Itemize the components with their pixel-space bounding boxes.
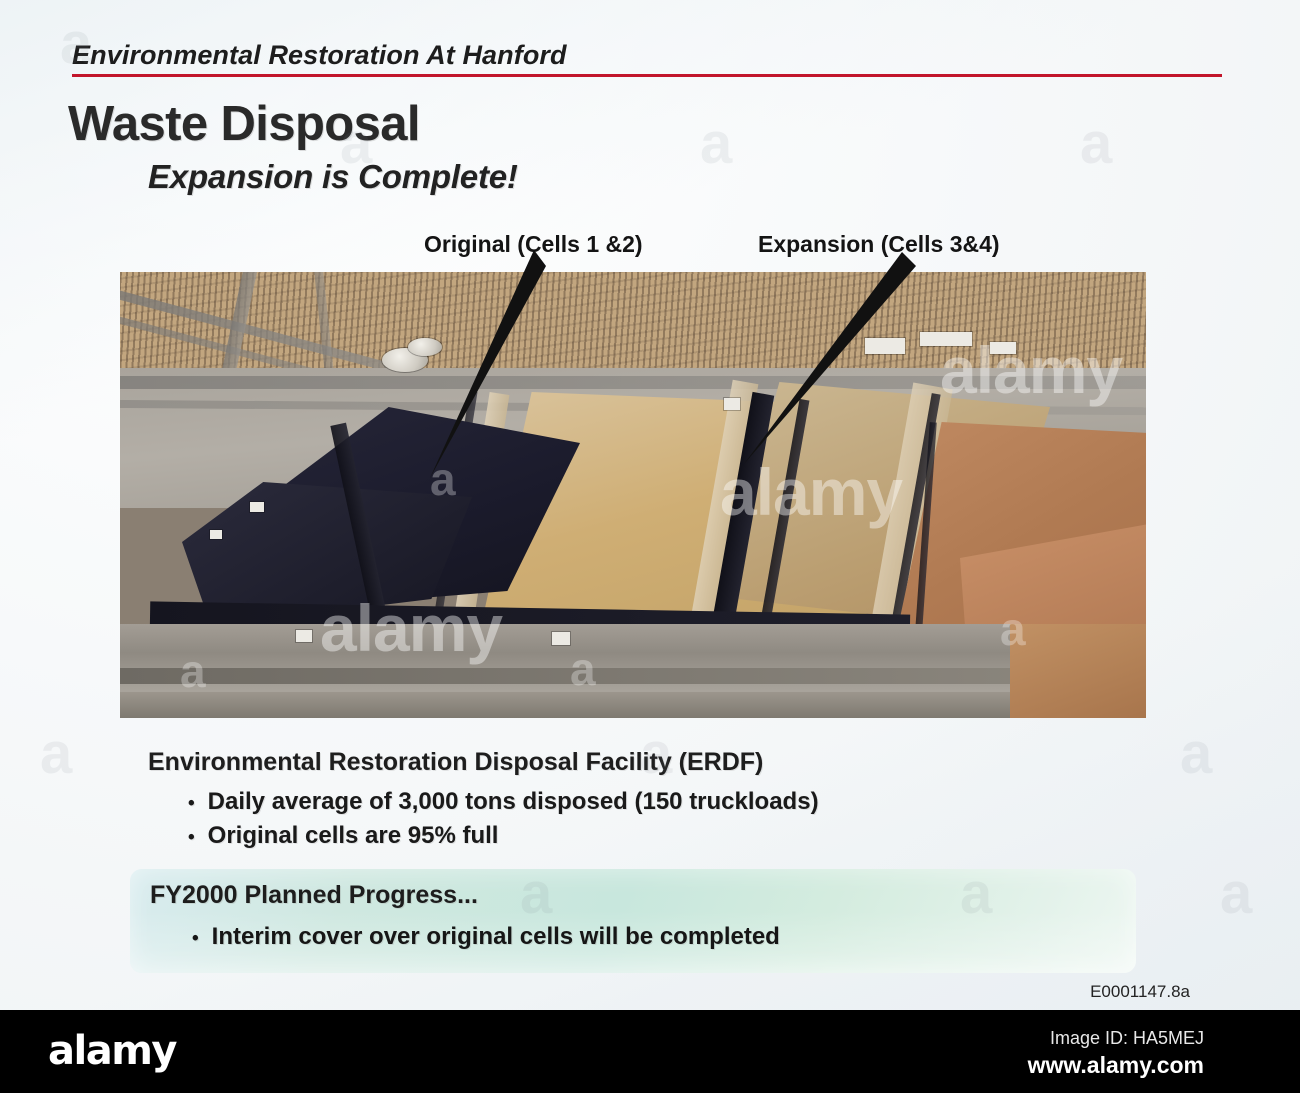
callout-pointer-expansion bbox=[730, 252, 920, 467]
page-subtitle: Expansion is Complete! bbox=[148, 158, 518, 196]
callout-pointer-original bbox=[410, 250, 550, 480]
body-bullet: • Daily average of 3,000 tons disposed (… bbox=[188, 788, 819, 816]
fy-box-bullet: • Interim cover over original cells will… bbox=[192, 923, 780, 951]
fy-box-bullet-text: Interim cover over original cells will b… bbox=[212, 923, 780, 951]
bullet-dot-icon: • bbox=[192, 929, 199, 948]
photo-bottom-road-stripe bbox=[120, 668, 1146, 684]
body-bullet-text: Daily average of 3,000 tons disposed (15… bbox=[208, 788, 819, 816]
fy-box-heading: FY2000 Planned Progress... bbox=[150, 881, 478, 910]
bullet-dot-icon: • bbox=[188, 828, 195, 847]
body-bullet-text: Original cells are 95% full bbox=[208, 822, 499, 850]
photo-building bbox=[296, 630, 312, 642]
photo-bottom-edge bbox=[120, 692, 1146, 718]
body-bullet: • Original cells are 95% full bbox=[188, 822, 498, 850]
page-watermark-a: a bbox=[1080, 110, 1112, 177]
photo-vehicle bbox=[210, 530, 222, 539]
alamy-url[interactable]: www.alamy.com bbox=[1028, 1052, 1204, 1079]
photo-building bbox=[990, 342, 1016, 354]
document-id: E0001147.8a bbox=[1090, 982, 1190, 1002]
aerial-photo: alamy alamy alamy a a a a bbox=[120, 272, 1146, 718]
photo-building bbox=[552, 632, 570, 645]
body-heading: Environmental Restoration Disposal Facil… bbox=[148, 748, 763, 777]
photo-building bbox=[920, 332, 972, 346]
header-eyebrow: Environmental Restoration At Hanford bbox=[72, 40, 567, 71]
fy-progress-callout-box: FY2000 Planned Progress... • Interim cov… bbox=[130, 869, 1136, 973]
page-watermark-a: a bbox=[1180, 720, 1212, 787]
header-rule bbox=[72, 74, 1222, 77]
page-watermark-a: a bbox=[1220, 860, 1252, 927]
alamy-image-id: Image ID: HA5MEJ bbox=[1050, 1028, 1204, 1049]
bullet-dot-icon: • bbox=[188, 794, 195, 813]
photo-soil-corner bbox=[1010, 624, 1146, 718]
stock-watermark-bar: alamy Image ID: HA5MEJ www.alamy.com bbox=[0, 1010, 1300, 1093]
page-title: Waste Disposal bbox=[68, 96, 420, 152]
photo-vehicle bbox=[250, 502, 264, 512]
page-watermark-a: a bbox=[700, 110, 732, 177]
alamy-logo: alamy bbox=[48, 1028, 176, 1074]
photo-perimeter-road bbox=[120, 376, 1146, 389]
page-watermark-a: a bbox=[40, 720, 72, 787]
slide-page: a a a a a a a a a a Environmental Restor… bbox=[0, 0, 1300, 1010]
